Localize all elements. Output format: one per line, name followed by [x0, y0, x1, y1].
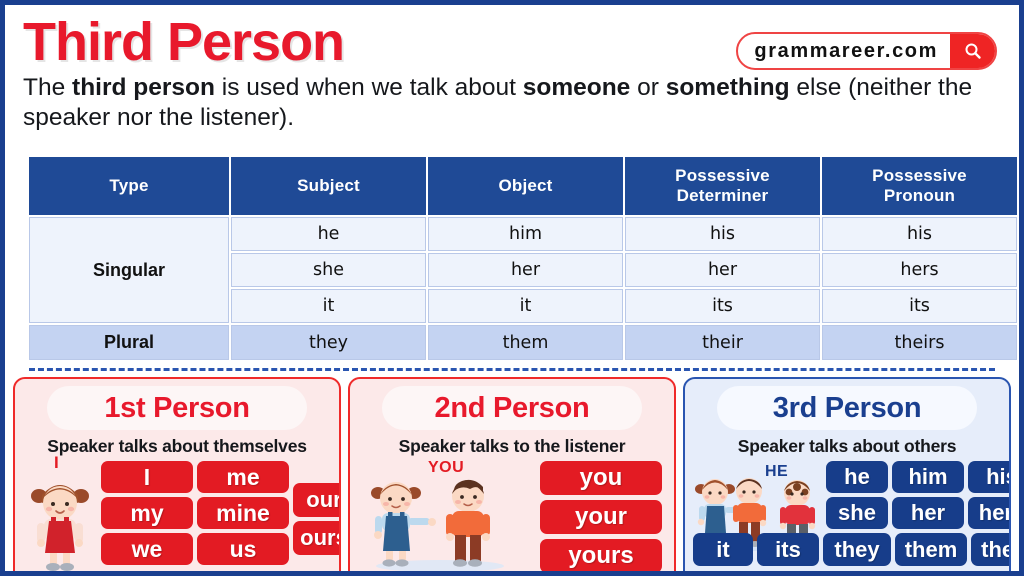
cell-subject: she	[231, 253, 426, 287]
pronoun-table-wrap: Type Subject Object Possessive Determine…	[27, 155, 997, 362]
chip-pronoun[interactable]: it	[693, 533, 753, 566]
chip-pronoun[interactable]: her	[892, 497, 964, 529]
column-header-possessive-determiner: Possessive Determiner	[625, 157, 820, 215]
girl-character-icon	[25, 469, 95, 571]
chips-side-first-person: our ours	[293, 483, 341, 555]
cell-possessive-determiner: her	[625, 253, 820, 287]
cell-possessive-pronoun: theirs	[822, 325, 1017, 360]
card-body-third-person: HE he him his she her hers it its they t…	[693, 461, 1001, 573]
girl-pointing-at-boy-icon	[362, 471, 522, 571]
subtitle-seg-6: something	[666, 74, 790, 101]
table-header-row: Type Subject Object Possessive Determine…	[29, 157, 1017, 215]
subtitle-seg-4: someone	[523, 74, 631, 101]
chip-pronoun[interactable]: she	[826, 497, 888, 529]
illustration-label-second-person: YOU	[428, 459, 464, 477]
card-third-person: 3rd Person Speaker talks about others	[683, 377, 1011, 576]
cell-possessive-determiner: his	[625, 217, 820, 251]
pronoun-table: Type Subject Object Possessive Determine…	[27, 155, 1019, 362]
chip-pronoun[interactable]: we	[101, 533, 193, 565]
table-body: Singular he him his his she her her hers…	[29, 217, 1017, 360]
header: Third Person grammareer.com The third pe…	[5, 5, 1019, 153]
chip-pronoun[interactable]: mine	[197, 497, 289, 529]
card-title-third-person: 3rd Person	[717, 386, 977, 430]
cell-object: her	[428, 253, 623, 287]
chip-pronoun[interactable]: them	[895, 533, 967, 566]
card-subtitle-second-person: Speaker talks to the listener	[358, 436, 666, 457]
chip-pronoun[interactable]: they	[823, 533, 891, 566]
card-first-person: 1st Person Speaker talks about themselve…	[13, 377, 341, 576]
cell-subject: they	[231, 325, 426, 360]
card-subtitle-third-person: Speaker talks about others	[693, 436, 1001, 457]
cell-object: him	[428, 217, 623, 251]
chip-pronoun[interactable]: you	[540, 461, 662, 495]
card-body-second-person: YOU you your yours	[358, 461, 666, 573]
chip-pronoun[interactable]: hers	[968, 497, 1011, 529]
cell-possessive-determiner: its	[625, 289, 820, 323]
column-header-subject: Subject	[231, 157, 426, 215]
subtitle-seg-3: is used when we talk about	[215, 74, 523, 101]
chips-bottom-third-person: it its they them their	[693, 533, 1011, 566]
subtitle-seg-2: third person	[72, 74, 215, 101]
chip-pronoun[interactable]: ours	[293, 521, 341, 555]
chips-grid-third-person: he him his she her hers	[826, 461, 1011, 529]
chips-grid-first-person: I me my mine we us	[101, 461, 289, 565]
chip-pronoun[interactable]: their	[971, 533, 1011, 566]
chip-pronoun[interactable]: my	[101, 497, 193, 529]
row-type-plural: Plural	[29, 325, 229, 360]
card-second-person: 2nd Person Speaker talks to the listener	[348, 377, 676, 576]
cell-subject: it	[231, 289, 426, 323]
cell-possessive-pronoun: his	[822, 217, 1017, 251]
chip-pronoun[interactable]: me	[197, 461, 289, 493]
cell-object: them	[428, 325, 623, 360]
chip-pronoun[interactable]: his	[968, 461, 1011, 493]
search-icon[interactable]	[950, 32, 996, 70]
chip-pronoun[interactable]: its	[757, 533, 819, 566]
card-subtitle-first-person: Speaker talks about themselves	[23, 436, 331, 457]
chips-stack-second-person: you your yours	[540, 461, 662, 573]
column-header-object: Object	[428, 157, 623, 215]
card-title-first-person: 1st Person	[47, 386, 307, 430]
chip-pronoun[interactable]: us	[197, 533, 289, 565]
page-title: Third Person	[23, 13, 344, 71]
cell-possessive-pronoun: hers	[822, 253, 1017, 287]
subtitle-seg-5: or	[630, 74, 665, 101]
cell-object: it	[428, 289, 623, 323]
chip-pronoun[interactable]: him	[892, 461, 964, 493]
chip-pronoun[interactable]: he	[826, 461, 888, 493]
cell-possessive-pronoun: its	[822, 289, 1017, 323]
dashed-divider	[29, 368, 995, 371]
person-cards: 1st Person Speaker talks about themselve…	[13, 377, 1011, 576]
row-type-singular: Singular	[29, 217, 229, 323]
chip-pronoun[interactable]: your	[540, 500, 662, 534]
table-row: Plural they them their theirs	[29, 325, 1017, 360]
infographic-page: Third Person grammareer.com The third pe…	[0, 0, 1024, 576]
column-header-possessive-pronoun: Possessive Pronoun	[822, 157, 1017, 215]
chip-pronoun[interactable]: I	[101, 461, 193, 493]
table-row: Singular he him his his	[29, 217, 1017, 251]
card-title-second-person: 2nd Person	[382, 386, 642, 430]
site-logo-text: grammareer.com	[754, 40, 950, 63]
card-body-first-person: I I me my mine we us our ours	[23, 461, 331, 573]
cell-possessive-determiner: their	[625, 325, 820, 360]
cell-subject: he	[231, 217, 426, 251]
chip-pronoun[interactable]: yours	[540, 539, 662, 573]
illustration-label-first-person: I	[54, 453, 59, 473]
chip-pronoun[interactable]: our	[293, 483, 341, 517]
illustration-label-third-person: HE	[765, 463, 788, 481]
subtitle-seg-1: The	[23, 74, 72, 101]
site-logo[interactable]: grammareer.com	[736, 32, 997, 70]
page-subtitle: The third person is used when we talk ab…	[23, 73, 1001, 133]
column-header-type: Type	[29, 157, 229, 215]
